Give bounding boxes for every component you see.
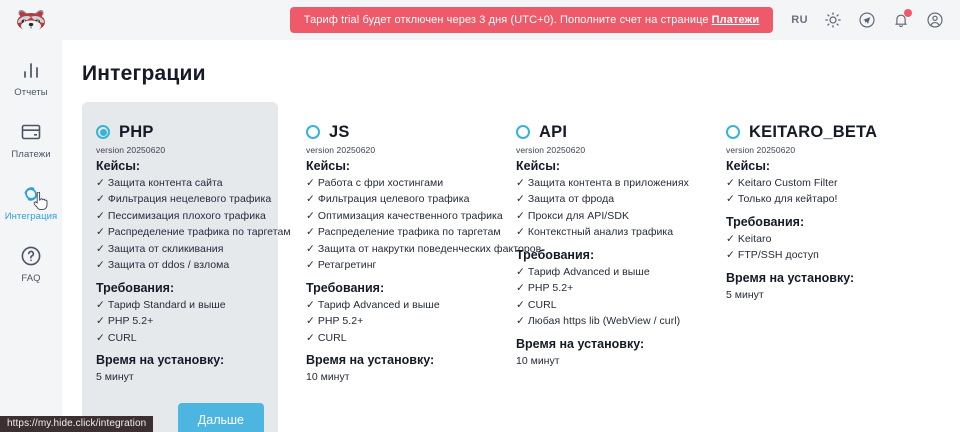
list-cases: ✓Защита контента в приложениях✓Защита от…: [516, 175, 684, 241]
list-item-label: Защита контента сайта: [108, 177, 223, 189]
check-icon: ✓: [516, 177, 525, 189]
section-title-install-time: Время на установку:: [726, 271, 938, 285]
list-item: ✓Пессимизация плохого трафика: [96, 208, 264, 225]
app-window: Тариф trial будет отключен через 3 дня (…: [0, 0, 960, 432]
list-item: ✓Защита контента сайта: [96, 175, 264, 192]
card-header: KEITARO_BETA: [726, 124, 938, 141]
list-item-label: Работа с фри хостингами: [318, 177, 443, 189]
radio-js-icon[interactable]: [306, 125, 320, 139]
card-header: JS: [306, 124, 474, 141]
list-item: ✓Защита от ddos / взлома: [96, 257, 264, 274]
list-item-label: Keitaro Custom Filter: [738, 177, 838, 189]
list-item: ✓Защита контента в приложениях: [516, 175, 684, 192]
radio-api-icon[interactable]: [516, 125, 530, 139]
list-cases: ✓Защита контента сайта✓Фильтрация нецеле…: [96, 175, 264, 274]
card-title: KEITARO_BETA: [749, 124, 877, 141]
list-item: ✓Распределение трафика по таргетам: [96, 224, 264, 241]
payments-link[interactable]: Платежи: [712, 14, 760, 26]
check-icon: ✓: [306, 177, 315, 189]
list-item-label: Любая https lib (WebView / curl): [528, 315, 680, 327]
list-item-label: Только для кейтаро!: [738, 193, 838, 205]
main-content: Интеграции PHPversion 20250620Кейсы:✓Защ…: [62, 40, 960, 432]
check-icon: ✓: [96, 193, 105, 205]
section-title-cases: Кейсы:: [726, 159, 938, 173]
install-time-value: 5 минут: [726, 287, 938, 303]
list-item: ✓Тариф Advanced и выше: [516, 264, 684, 281]
check-icon: ✓: [516, 210, 525, 222]
raccoon-logo-icon: [14, 7, 48, 33]
check-icon: ✓: [306, 332, 315, 344]
section-title-requirements: Требования:: [96, 281, 264, 295]
section-title-cases: Кейсы:: [516, 159, 684, 173]
list-item-label: Оптимизация качественного трафика: [318, 210, 503, 222]
check-icon: ✓: [96, 210, 105, 222]
card-title: API: [539, 124, 567, 141]
card-version: version 20250620: [516, 145, 684, 155]
list-item: ✓Контекстный анализ трафика: [516, 224, 684, 241]
check-icon: ✓: [726, 249, 735, 261]
check-icon: ✓: [306, 259, 315, 271]
list-item-label: Пессимизация плохого трафика: [108, 210, 266, 222]
next-button[interactable]: Дальше: [178, 403, 264, 432]
integration-card-php[interactable]: PHPversion 20250620Кейсы:✓Защита контент…: [82, 102, 278, 432]
list-item-label: CURL: [528, 299, 557, 311]
card-header: API: [516, 124, 684, 141]
list-item-label: Защита от скликивания: [108, 243, 224, 255]
card-title: JS: [329, 124, 350, 141]
section-title-requirements: Требования:: [726, 215, 938, 229]
section-title-cases: Кейсы:: [96, 159, 264, 173]
check-icon: ✓: [516, 226, 525, 238]
check-icon: ✓: [516, 266, 525, 278]
check-icon: ✓: [726, 193, 735, 205]
sidebar-label-faq: FAQ: [21, 273, 40, 284]
sun-icon[interactable]: [824, 11, 842, 29]
trial-expiry-banner: Тариф trial будет отключен через 3 дня (…: [290, 7, 774, 33]
list-item: ✓PHP 5.2+: [96, 313, 264, 330]
list-item-label: PHP 5.2+: [318, 315, 363, 327]
radio-keitaro_beta-icon[interactable]: [726, 125, 740, 139]
section-title-requirements: Требования:: [306, 281, 474, 295]
section-title-install-time: Время на установку:: [516, 337, 684, 351]
bell-icon[interactable]: [892, 11, 910, 29]
check-icon: ✓: [726, 233, 735, 245]
integration-card-js[interactable]: JSversion 20250620Кейсы:✓Работа с фри хо…: [292, 102, 488, 399]
list-item-label: Фильтрация целевого трафика: [318, 193, 470, 205]
card-version: version 20250620: [96, 145, 264, 155]
sidebar-label-reports: Отчеты: [14, 87, 47, 98]
list-item-label: Тариф Standard и выше: [108, 299, 226, 311]
list-item-label: Keitaro: [738, 233, 772, 245]
list-item-label: PHP 5.2+: [528, 282, 573, 294]
radio-php-icon[interactable]: [96, 125, 110, 139]
status-bar-url: https://my.hide.click/integration: [0, 416, 153, 432]
list-item: ✓Распределение трафика по таргетам: [306, 224, 474, 241]
language-switcher[interactable]: RU: [791, 14, 808, 26]
sidebar: Отчеты Платежи: [0, 40, 62, 432]
check-icon: ✓: [516, 282, 525, 294]
check-icon: ✓: [96, 226, 105, 238]
list-item-label: Ретагретинг: [318, 259, 377, 271]
check-icon: ✓: [96, 332, 105, 344]
list-cases: ✓Keitaro Custom Filter✓Только для кейтар…: [726, 175, 938, 208]
question-circle-icon: [19, 244, 43, 268]
card-version: version 20250620: [306, 145, 474, 155]
check-icon: ✓: [96, 177, 105, 189]
install-time-value: 5 минут: [96, 369, 264, 385]
list-item: ✓Keitaro Custom Filter: [726, 175, 938, 192]
sidebar-item-payments[interactable]: Платежи: [0, 120, 62, 160]
list-item-label: Тариф Advanced и выше: [528, 266, 650, 278]
body: Отчеты Платежи: [0, 40, 960, 432]
list-item-label: Контекстный анализ трафика: [528, 226, 673, 238]
list-item: ✓Защита от накрутки поведенческих фактор…: [306, 241, 474, 258]
trial-banner-text: Тариф trial будет отключен через 3 дня (…: [304, 14, 709, 26]
section-title-cases: Кейсы:: [306, 159, 474, 173]
list-item: ✓Ретагретинг: [306, 257, 474, 274]
check-icon: ✓: [306, 315, 315, 327]
list-item-label: Фильтрация нецелевого трафика: [108, 193, 271, 205]
section-title-requirements: Требования:: [516, 248, 684, 262]
check-icon: ✓: [96, 299, 105, 311]
page-title: Интеграции: [82, 62, 960, 86]
list-requirements: ✓Тариф Standard и выше✓PHP 5.2+✓CURL: [96, 297, 264, 347]
sidebar-item-faq[interactable]: FAQ: [0, 244, 62, 284]
check-icon: ✓: [306, 210, 315, 222]
check-icon: ✓: [306, 299, 315, 311]
list-requirements: ✓Тариф Advanced и выше✓PHP 5.2+✓CURL: [306, 297, 474, 347]
list-cases: ✓Работа с фри хостингами✓Фильтрация целе…: [306, 175, 474, 274]
list-item: ✓Любая https lib (WebView / curl): [516, 313, 684, 330]
integration-card-api[interactable]: APIversion 20250620Кейсы:✓Защита контент…: [502, 102, 698, 383]
card-title: PHP: [119, 124, 154, 141]
sidebar-label-payments: Платежи: [11, 149, 50, 160]
check-icon: ✓: [96, 259, 105, 271]
check-icon: ✓: [516, 299, 525, 311]
check-icon: ✓: [306, 226, 315, 238]
check-icon: ✓: [516, 315, 525, 327]
integration-cards: PHPversion 20250620Кейсы:✓Защита контент…: [82, 102, 960, 432]
list-item: ✓Фильтрация целевого трафика: [306, 191, 474, 208]
list-item: ✓CURL: [516, 297, 684, 314]
list-item-label: Защита контента в приложениях: [528, 177, 689, 189]
check-icon: ✓: [96, 243, 105, 255]
install-time-value: 10 минут: [306, 369, 474, 385]
credit-card-icon: [19, 120, 43, 144]
list-item: ✓Фильтрация нецелевого трафика: [96, 191, 264, 208]
list-item: ✓Работа с фри хостингами: [306, 175, 474, 192]
list-item: ✓FTP/SSH доступ: [726, 247, 938, 264]
install-time-value: 10 минут: [516, 353, 684, 369]
account-icon[interactable]: [926, 11, 944, 29]
check-icon: ✓: [306, 243, 315, 255]
list-item-label: Защита от ddos / взлома: [108, 259, 229, 271]
list-item-label: FTP/SSH доступ: [738, 249, 819, 261]
list-item-label: CURL: [318, 332, 347, 344]
sidebar-item-reports[interactable]: Отчеты: [0, 58, 62, 98]
card-version: version 20250620: [726, 145, 938, 155]
list-item: ✓Защита от фрода: [516, 191, 684, 208]
integration-card-keitaro_beta[interactable]: KEITARO_BETAversion 20250620Кейсы:✓Keita…: [712, 102, 952, 317]
list-item: ✓CURL: [96, 330, 264, 347]
section-title-install-time: Время на установку:: [96, 353, 264, 367]
integration-icon: [19, 182, 43, 206]
list-requirements: ✓Keitaro✓FTP/SSH доступ: [726, 231, 938, 264]
section-title-install-time: Время на установку:: [306, 353, 474, 367]
list-item-label: Защита от фрода: [528, 193, 614, 205]
list-item: ✓Только для кейтаро!: [726, 191, 938, 208]
check-icon: ✓: [726, 177, 735, 189]
sidebar-label-integration: Интеграция: [5, 211, 58, 222]
list-item: ✓Прокси для API/SDK: [516, 208, 684, 225]
list-item: ✓PHP 5.2+: [306, 313, 474, 330]
sidebar-item-integration[interactable]: Интеграция: [0, 182, 62, 222]
list-item-label: Тариф Advanced и выше: [318, 299, 440, 311]
list-item-label: Распределение трафика по таргетам: [108, 226, 291, 238]
topbar-actions: RU: [791, 11, 960, 29]
card-header: PHP: [96, 124, 264, 141]
list-item-label: PHP 5.2+: [108, 315, 153, 327]
list-item: ✓Keitaro: [726, 231, 938, 248]
topbar: Тариф trial будет отключен через 3 дня (…: [0, 0, 960, 40]
list-item: ✓Тариф Standard и выше: [96, 297, 264, 314]
list-item: ✓Тариф Advanced и выше: [306, 297, 474, 314]
check-icon: ✓: [96, 315, 105, 327]
list-item: ✓Оптимизация качественного трафика: [306, 208, 474, 225]
list-item-label: CURL: [108, 332, 137, 344]
list-requirements: ✓Тариф Advanced и выше✓PHP 5.2+✓CURL✓Люб…: [516, 264, 684, 330]
list-item: ✓PHP 5.2+: [516, 280, 684, 297]
list-item-label: Распределение трафика по таргетам: [318, 226, 501, 238]
list-item: ✓Защита от скликивания: [96, 241, 264, 258]
telegram-icon[interactable]: [858, 11, 876, 29]
list-item: ✓CURL: [306, 330, 474, 347]
check-icon: ✓: [306, 193, 315, 205]
app-logo[interactable]: [0, 0, 62, 40]
bar-chart-icon: [19, 58, 43, 82]
list-item-label: Прокси для API/SDK: [528, 210, 629, 222]
check-icon: ✓: [516, 193, 525, 205]
notification-dot: [904, 9, 912, 17]
